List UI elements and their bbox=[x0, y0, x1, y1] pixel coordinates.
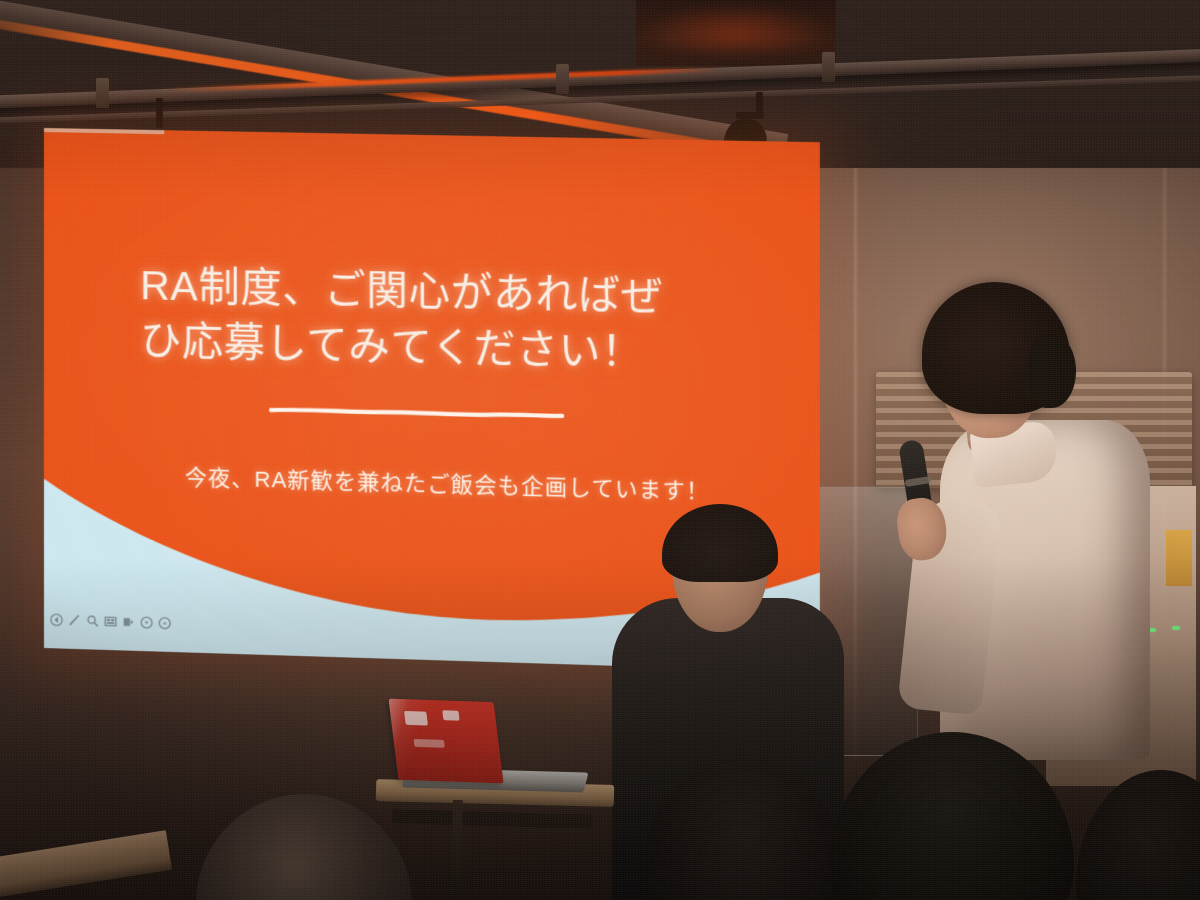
next-slide-icon[interactable] bbox=[158, 616, 171, 629]
laptop-lid bbox=[388, 698, 503, 783]
more-options-icon[interactable] bbox=[140, 616, 153, 629]
laptop-sticker bbox=[404, 711, 428, 726]
desk-leg bbox=[451, 800, 463, 896]
projection-top-edge bbox=[44, 128, 164, 134]
presentation-photo-scene: RA制度、ご関心があればぜ ひ応募してみてください！ 今夜、RA新歓を兼ねたご飯… bbox=[0, 0, 1200, 900]
laptop-sticker bbox=[413, 739, 444, 748]
laptop-sticker bbox=[442, 710, 459, 720]
pipe-bracket bbox=[96, 78, 109, 108]
slide-title: RA制度、ご関心があればぜ ひ応募してみてください！ bbox=[140, 258, 751, 382]
pen-icon[interactable] bbox=[68, 614, 81, 627]
spotlight-stem bbox=[156, 98, 163, 128]
magnifier-icon[interactable] bbox=[86, 614, 99, 627]
pipe-bracket bbox=[556, 64, 569, 94]
pointer-icon[interactable] bbox=[122, 615, 135, 628]
pipe-bracket bbox=[822, 52, 835, 82]
status-led bbox=[1172, 626, 1180, 630]
previous-slide-icon[interactable] bbox=[50, 613, 63, 626]
appliance-label-sticker bbox=[1166, 530, 1192, 586]
ceiling-light-glow bbox=[640, 4, 830, 52]
title-divider-line bbox=[269, 406, 564, 420]
slide-menu-icon[interactable] bbox=[104, 615, 117, 628]
